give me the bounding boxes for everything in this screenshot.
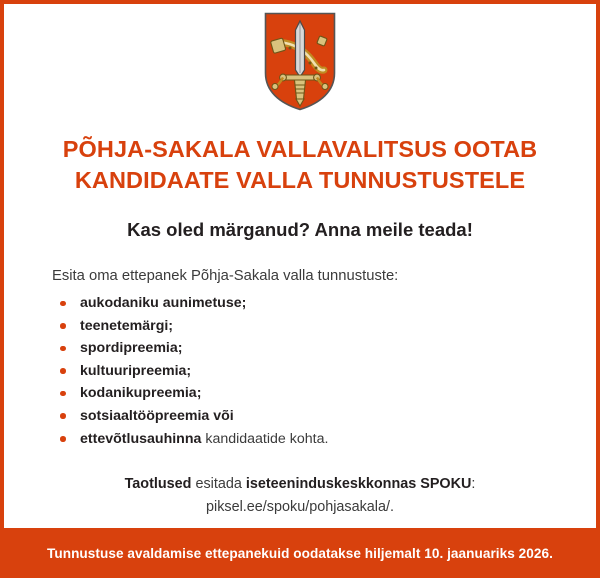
bullet-dot-icon xyxy=(60,368,66,374)
list-item: sotsiaaltööpreemia või xyxy=(52,405,556,428)
list-item: teenetemärgi; xyxy=(52,315,556,338)
award-list: aukodaniku aunimetuse; teenetemärgi; spo… xyxy=(52,292,556,450)
list-item: kodanikupreemia; xyxy=(52,382,556,405)
list-item: aukodaniku aunimetuse; xyxy=(52,292,556,315)
page-title: PÕHJA-SAKALA VALLAVALITSUS OOTAB KANDIDA… xyxy=(4,134,596,196)
bullet-dot-icon xyxy=(60,323,66,329)
award-name: kultuuripreemia; xyxy=(80,363,191,379)
crest-area xyxy=(4,4,596,112)
bullet-dot-icon xyxy=(60,413,66,419)
apply-info: Taotlused esitada iseteeninduskeskkonnas… xyxy=(4,473,596,519)
page-title-line-2: KANDIDAATE VALLA TUNNUSTUSTELE xyxy=(4,165,596,196)
apply-bold-1: Taotlused xyxy=(125,476,192,492)
list-item: kultuuripreemia; xyxy=(52,360,556,383)
announcement-poster: PÕHJA-SAKALA VALLAVALITSUS OOTAB KANDIDA… xyxy=(0,0,600,578)
body-block: Esita oma ettepanek Põhja-Sakala valla t… xyxy=(4,266,596,450)
page-title-line-1: PÕHJA-SAKALA VALLAVALITSUS OOTAB xyxy=(4,134,596,165)
page-subtitle: Kas oled märganud? Anna meile teada! xyxy=(4,219,596,241)
award-name: spordipreemia; xyxy=(80,340,183,356)
apply-mid: esitada xyxy=(191,476,245,492)
apply-colon: : xyxy=(471,476,475,492)
award-name: aukodaniku aunimetuse; xyxy=(80,295,246,311)
award-tail: kandidaatide kohta. xyxy=(201,431,328,447)
bullet-dot-icon xyxy=(60,301,66,307)
deadline-text: Tunnustuse avaldamise ettepanekuid oodat… xyxy=(47,546,553,561)
award-name: teenetemärgi; xyxy=(80,318,173,334)
award-name: sotsiaaltööpreemia või xyxy=(80,408,234,424)
award-name: kodanikupreemia; xyxy=(80,385,201,401)
shield-sword-horn-icon xyxy=(263,11,337,112)
apply-bold-2: iseteeninduskeskkonnas SPOKU xyxy=(246,476,472,492)
spoku-url[interactable]: piksel.ee/spoku/pohjasakala/. xyxy=(4,496,596,519)
list-item: spordipreemia; xyxy=(52,337,556,360)
deadline-banner: Tunnustuse avaldamise ettepanekuid oodat… xyxy=(0,528,600,578)
coat-of-arms xyxy=(263,11,337,112)
bullet-dot-icon xyxy=(60,436,66,442)
award-name: ettevõtlusauhinna xyxy=(80,431,201,447)
intro-text: Esita oma ettepanek Põhja-Sakala valla t… xyxy=(52,266,556,286)
bullet-dot-icon xyxy=(60,391,66,397)
bullet-dot-icon xyxy=(60,346,66,352)
list-item: ettevõtlusauhinna kandidaatide kohta. xyxy=(52,428,556,451)
